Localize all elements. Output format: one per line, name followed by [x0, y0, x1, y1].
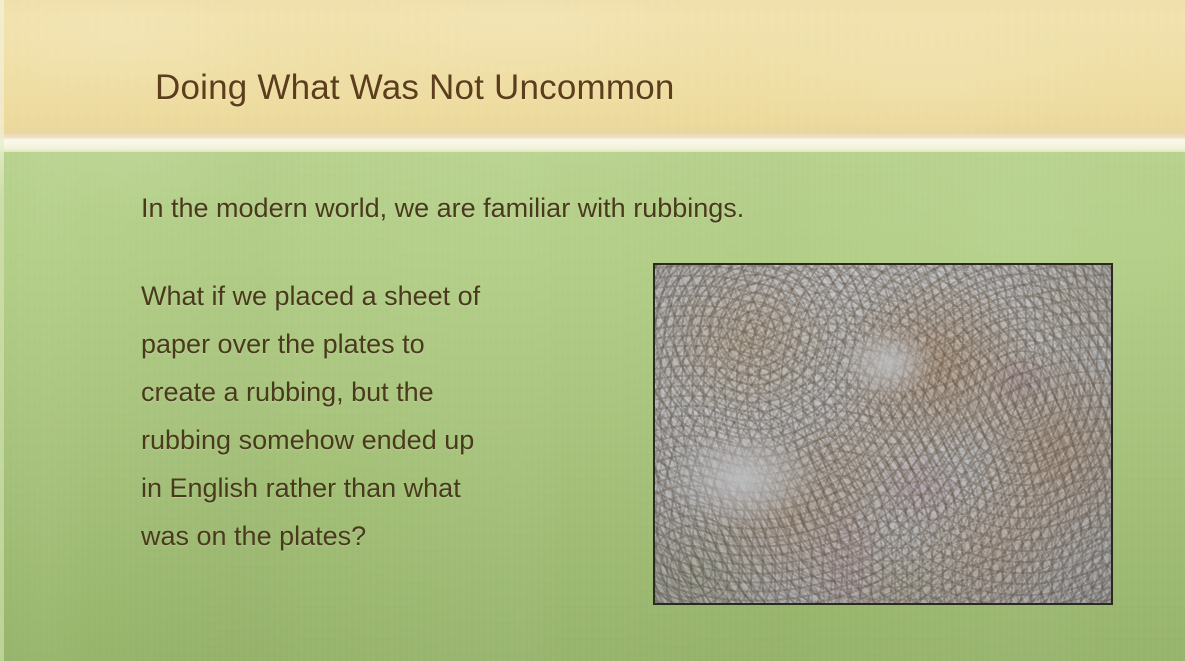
lead-paragraph: In the modern world, we are familiar wit…: [141, 190, 744, 226]
body-line: in English rather than what: [141, 464, 611, 512]
title-band-separator: [0, 139, 1185, 152]
body-line: create a rubbing, but the: [141, 368, 611, 416]
body-line: rubbing somehow ended up: [141, 416, 611, 464]
body-line: What if we placed a sheet of: [141, 272, 611, 320]
slide-title: Doing What Was Not Uncommon: [155, 66, 675, 110]
body-paragraph: What if we placed a sheet of paper over …: [141, 272, 611, 560]
rubbing-vignette: [655, 265, 1111, 603]
body-line: paper over the plates to: [141, 320, 611, 368]
left-edge-stripe: [0, 0, 4, 661]
rubbing-image: [653, 263, 1113, 605]
body-line: was on the plates?: [141, 512, 611, 560]
rubbing-artwork: [655, 265, 1111, 603]
presentation-slide: Doing What Was Not Uncommon In the moder…: [0, 0, 1185, 661]
